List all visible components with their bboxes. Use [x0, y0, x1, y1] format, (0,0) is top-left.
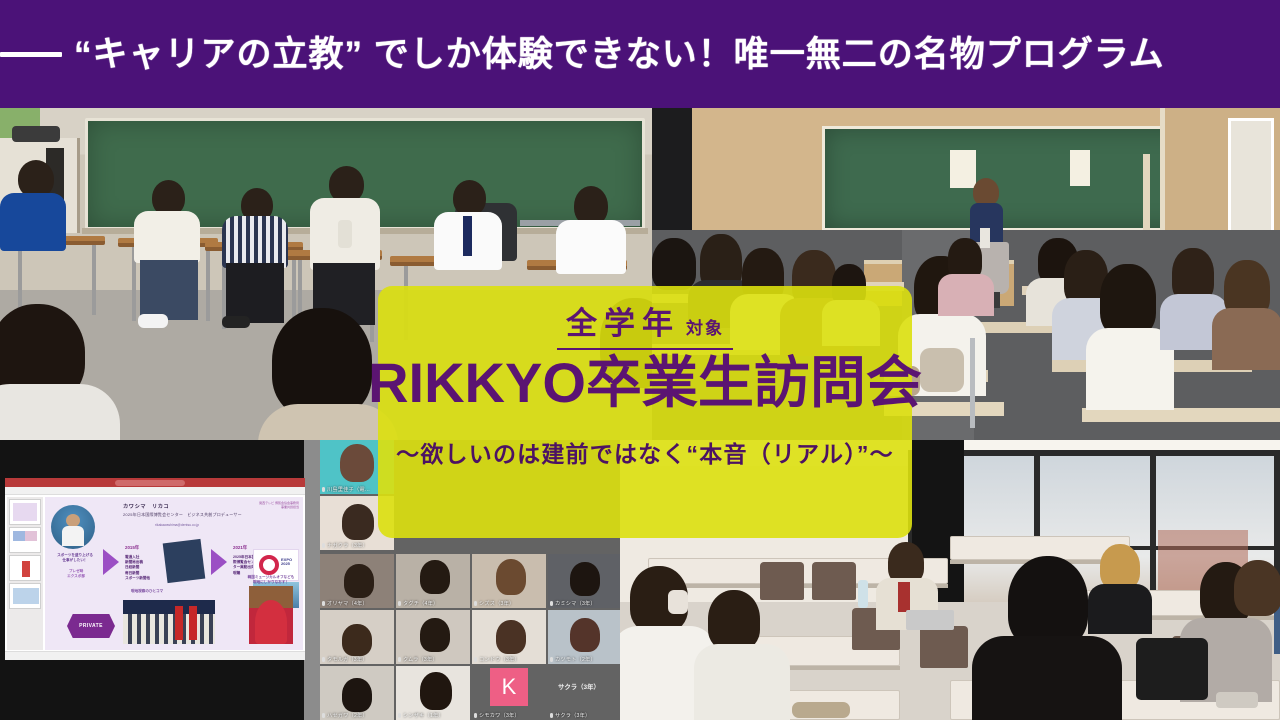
- event-card: 全学年 対象 RIKKYO卒業生訪問会 〜欲しいのは建前ではなく“本音（リアル）…: [378, 286, 912, 538]
- hanbok-photo: [249, 586, 293, 644]
- private-tag: PRIVATE: [67, 614, 115, 638]
- photo-zoom-screenshare: スポーツを盛り上げる仕事がしたい！ プレゼ時エクスポ部 カワシマ リカコ 202…: [0, 440, 320, 720]
- header-title: “キャリアの立教” でしか体験できない！唯一無二の名物プログラム: [74, 37, 1165, 72]
- slide-thumbnail-pane[interactable]: [7, 497, 43, 650]
- group-photo: [123, 600, 215, 644]
- slide-speaker-name: カワシマ リカコ: [123, 503, 169, 510]
- laptop: [906, 610, 954, 630]
- zoom-tile[interactable]: シズス（3年）: [472, 554, 546, 608]
- zoom-tile[interactable]: クムラ（3年）: [396, 610, 470, 664]
- powerpoint-window: スポーツを盛り上げる仕事がしたい！ プレゼ時エクスポ部 カワシマ リカコ 202…: [5, 478, 305, 660]
- zoom-tile[interactable]: カツモト（2年）: [548, 610, 620, 664]
- horizontal-dash-icon: [0, 52, 62, 57]
- slide-speaker-role: 2025年日本国際博覧会センター ビジネス共創プロデューサー: [123, 512, 242, 518]
- card-subtitle: 〜欲しいのは建前ではなく“本音（リアル）”〜: [396, 435, 894, 469]
- zoom-tile[interactable]: コンドウ（3年）: [472, 610, 546, 664]
- powerpoint-titlebar: [5, 478, 305, 487]
- search-box[interactable]: [115, 480, 185, 486]
- zoom-tile[interactable]: カミシマ（3年）: [548, 554, 620, 608]
- zoom-tile[interactable]: サクラ（3年） サクラ（3年）: [548, 666, 620, 720]
- poster-canvas: “キャリアの立教” でしか体験できない！唯一無二の名物プログラム: [0, 0, 1280, 720]
- card-eyebrow-main: 全学年: [566, 308, 680, 339]
- card-title: RIKKYO卒業生訪問会: [368, 354, 922, 413]
- slide-contact-mail: rikakawashima@dentsu.co.jp: [155, 523, 199, 527]
- zoom-tile[interactable]: K シモカワ（3年）: [472, 666, 546, 720]
- card-divider: [557, 348, 733, 350]
- slide-canvas: スポーツを盛り上げる仕事がしたい！ プレゼ時エクスポ部 カワシマ リカコ 202…: [45, 497, 303, 650]
- card-eyebrow-sub: 対象: [686, 320, 724, 337]
- zoom-tile[interactable]: タモルガ（3年）: [320, 610, 394, 664]
- zoom-tile[interactable]: タグチ（4年）: [396, 554, 470, 608]
- slide-milestone-2-year: 2021年: [233, 545, 247, 551]
- powerpoint-ribbon: [5, 487, 305, 495]
- avatar: K: [490, 668, 528, 706]
- zoom-sidebar-strip: [304, 440, 320, 720]
- zoom-tile[interactable]: シンザキ（1年）: [396, 666, 470, 720]
- slide-corner-note: 関西テレビ 博覧会協会事務局事業共創担当: [259, 501, 299, 509]
- powerpoint-statusbar: [5, 651, 305, 660]
- slide-milestone-1-year: 2015年: [125, 545, 139, 551]
- zoom-tile[interactable]: ハセガワ（2年）: [320, 666, 394, 720]
- backpack: [1136, 638, 1208, 700]
- card-eyebrow: 全学年 対象: [566, 308, 724, 339]
- header-band: “キャリアの立教” でしか体験できない！唯一無二の名物プログラム: [0, 0, 1280, 108]
- zoom-tile[interactable]: オリヤマ（4年）: [320, 554, 394, 608]
